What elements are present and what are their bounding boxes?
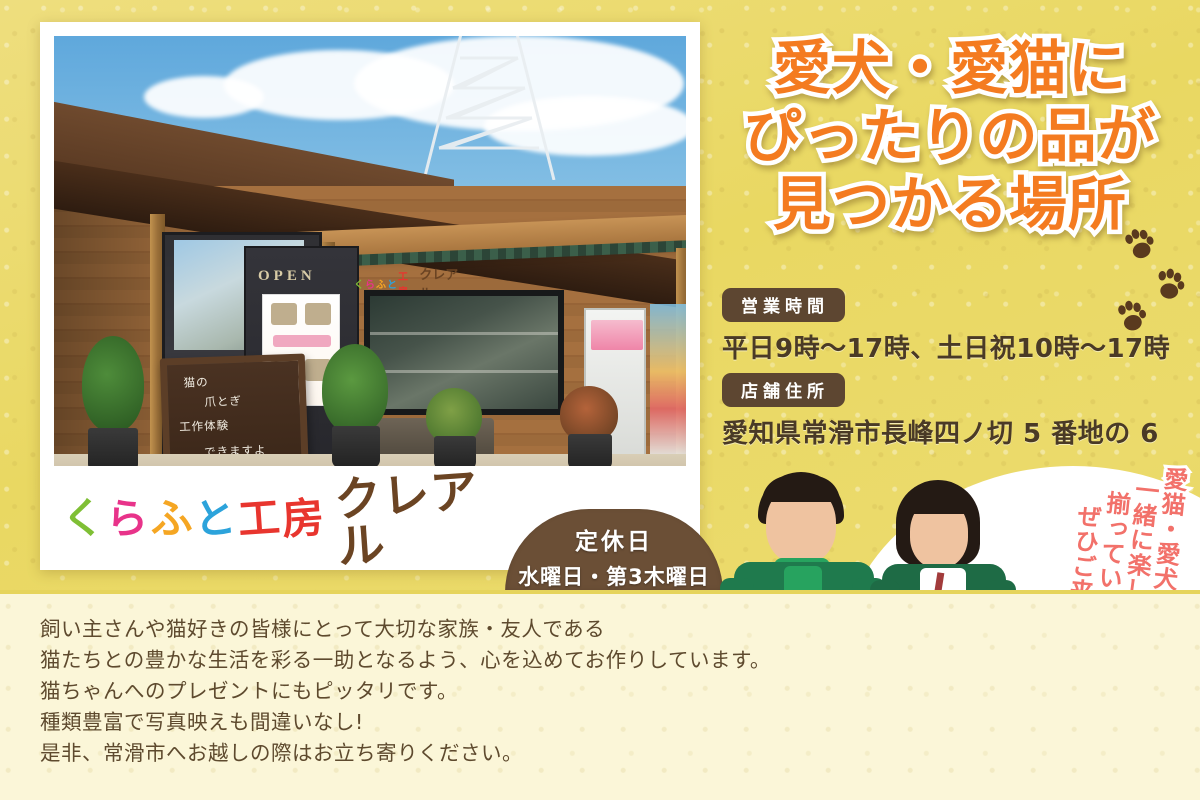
closed-days-title: 定休日 [505,522,723,556]
headline-line-3: 見つかる場所 [714,170,1186,238]
headline-line-2: ぴったりの品が [714,102,1186,170]
shop-address-value: 愛知県常滑市長峰四ノ切 5 番地の 6 [722,413,1159,450]
business-hours-block: 営業時間 平日9時〜17時、土日祝10時〜17時 [722,288,1170,365]
potted-plant [82,336,144,432]
logo-char: 工 [237,497,282,542]
logo-katakana: クレアル [333,467,495,572]
closed-days-badge: 定休日 水曜日・第3木曜日 [505,509,723,593]
logo-char: く [61,497,106,542]
hair-top [762,476,840,502]
street-kiosk [650,304,686,454]
plant-pot [568,434,612,466]
logo-char: ふ [149,497,194,542]
open-sign: OPEN [258,268,316,285]
plant-pot [88,428,138,466]
business-hours-value: 平日9時〜17時、土日祝10時〜17時 [722,328,1170,365]
logo-char: 房 [281,497,326,542]
logo-char: ら [105,497,150,542]
storefront-photo: OPEN くらふと工房クレアル 猫の 爪とぎ 工作体験 できますよ [54,36,686,466]
potted-plant [322,344,388,434]
wall-logo: くらふと工房クレアル [354,276,464,290]
page-title: 愛犬・愛猫に ぴったりの品が 見つかる場所 [714,34,1186,238]
description-text: 飼い主さんや猫好きの皆様にとって大切な家族・友人である 猫たちとの豊かな生活を彩… [40,614,771,769]
plant-pot [332,426,380,466]
plant-pot [434,436,476,466]
storefront-photo-card: OPEN くらふと工房クレアル 猫の 爪とぎ 工作体験 できますよ [40,22,700,570]
logo-char: と [193,497,238,542]
closed-days-value: 水曜日・第3木曜日 [505,561,723,591]
cloud-icon [144,76,264,118]
radio-tower-icon [384,36,594,180]
headline-line-1: 愛犬・愛猫に [714,34,1186,102]
shop-address-block: 店舗住所 愛知県常滑市長峰四ノ切 5 番地の 6 [722,373,1159,450]
flyer-root: OPEN くらふと工房クレアル 猫の 爪とぎ 工作体験 できますよ [0,0,1200,800]
description-panel: 飼い主さんや猫好きの皆様にとって大切な家族・友人である 猫たちとの豊かな生活を彩… [0,590,1200,800]
shop-address-label: 店舗住所 [722,373,845,407]
shop-logo: く ら ふ と 工 房 クレアル [62,484,492,554]
business-hours-label: 営業時間 [722,288,845,322]
chalkboard-sign: 猫の 爪とぎ 工作体験 できますよ [160,354,309,466]
